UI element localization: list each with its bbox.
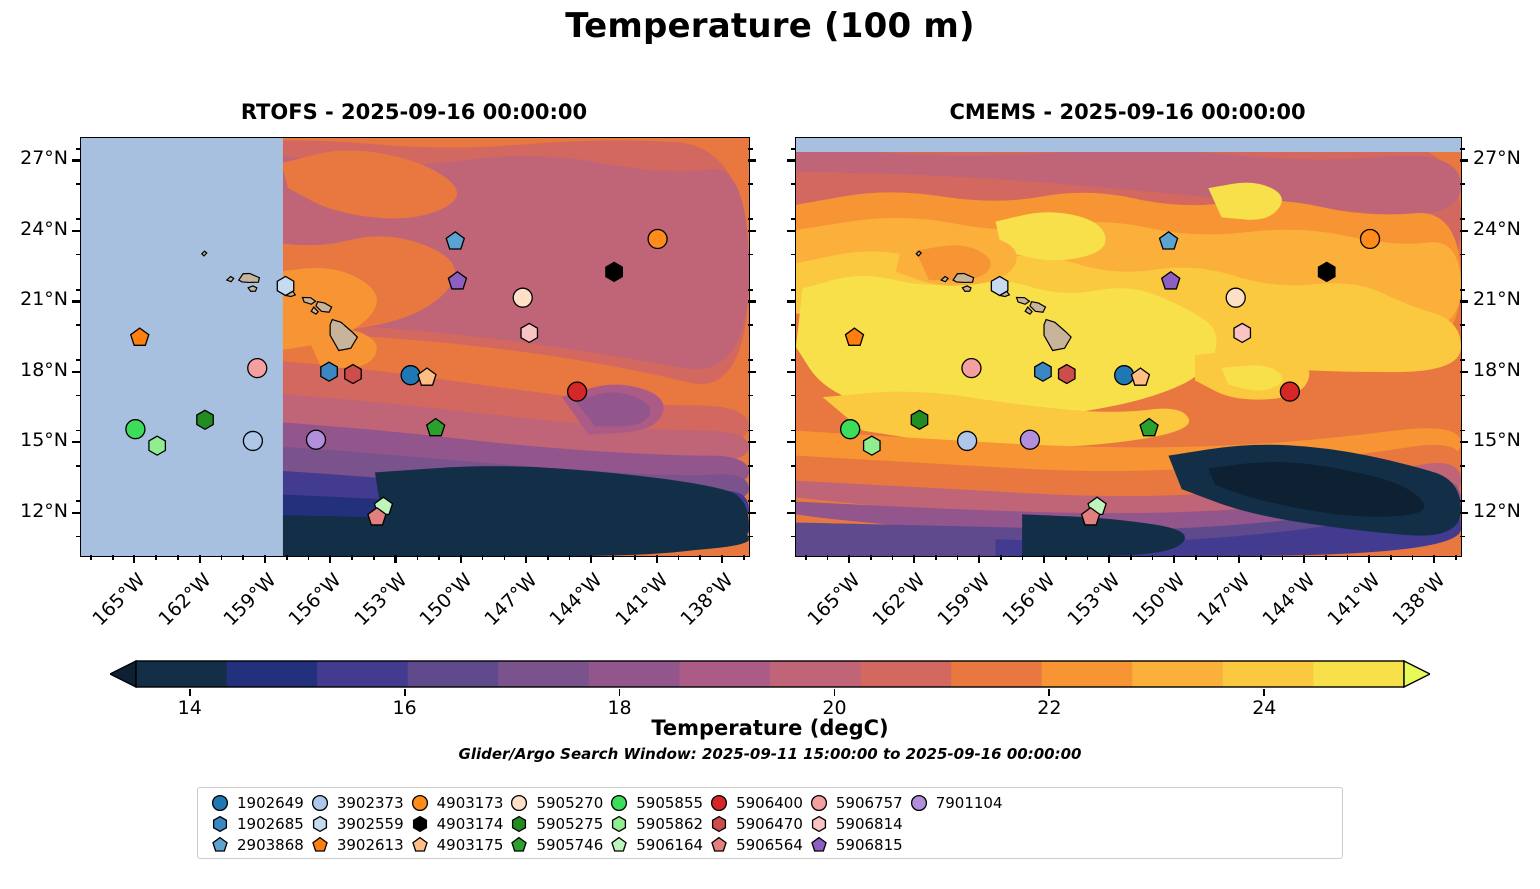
lon-minor-tick [308,555,310,560]
lat-minor-tick [791,254,796,256]
lat-minor-tick [1460,430,1465,432]
lon-minor-tick [1347,555,1349,560]
lon-tick [394,555,396,563]
float-marker-5906470 [345,365,361,384]
lat-tick [787,512,795,514]
lat-tick-label: 27°N [1473,147,1540,169]
lat-tick [1460,159,1468,161]
colorbar-band [861,661,952,687]
legend-marker-circle-icon [210,793,230,813]
float-marker-5905270 [1226,288,1245,307]
colorbar-band [1313,661,1404,687]
float-marker-3902373 [243,431,262,450]
lon-minor-tick [935,555,937,560]
float-marker-5905275 [197,410,213,429]
legend-marker-circle-icon [609,793,629,813]
map-panel-rtofs[interactable] [80,137,750,557]
legend-marker-pentagon-icon [609,835,629,855]
lat-tick [72,512,80,514]
lon-minor-tick [155,555,157,560]
lat-tick [787,159,795,161]
lat-tick [1460,300,1468,302]
float-marker-4903174 [606,262,622,281]
lat-minor-tick [1460,254,1465,256]
lat-tick-label: 18°N [0,359,68,381]
colorbar-band [951,661,1042,687]
figure-title: Temperature (100 m) [0,6,1540,46]
lon-minor-tick [417,555,419,560]
lon-minor-tick [547,555,549,560]
legend-marker-hexagon-icon [210,814,230,834]
lat-minor-tick [76,324,81,326]
legend-label: 5905862 [636,815,703,833]
lon-minor-tick [1152,555,1154,560]
legend-item-4903175[interactable]: 4903175 [404,834,504,855]
lat-minor-tick [76,536,81,538]
legend-marker-pentagon-icon [509,835,529,855]
lat-minor-tick [748,254,753,256]
lat-minor-tick [791,536,796,538]
lon-tick [264,555,266,563]
lat-minor-tick [791,465,796,467]
lon-tick [721,555,723,563]
colorbar-band [136,661,227,687]
lon-minor-tick [1022,555,1024,560]
legend-item-5905275[interactable]: 5905275 [503,813,603,834]
legend-marker-circle-icon [410,793,430,813]
lon-minor-tick [1130,555,1132,560]
lat-minor-tick [1460,218,1465,220]
float-marker-1902685 [321,362,337,381]
colorbar-band [679,661,770,687]
lon-minor-tick [743,555,745,560]
legend-label: 5906815 [836,836,903,854]
legend-marker-pentagon-icon [210,835,230,855]
lat-minor-tick [76,395,81,397]
colorbar-band [1223,661,1314,687]
lat-minor-tick [748,289,753,291]
lat-minor-tick [1460,395,1465,397]
lat-tick [1460,230,1468,232]
lat-tick-label: 18°N [1473,359,1540,381]
legend-marker-pentagon-icon [410,835,430,855]
legend-marker-pentagon-icon [809,835,829,855]
legend-label: 4903174 [437,815,504,833]
rtofs-temperature-field [81,138,749,556]
lon-minor-tick [1260,555,1262,560]
lon-minor-tick [482,555,484,560]
legend-marker-circle-icon [909,793,929,813]
colorbar-gradient [110,659,1430,689]
float-marker-5906470 [1059,365,1075,384]
lat-minor-tick [76,500,81,502]
lat-minor-tick [1460,536,1465,538]
legend-item-3902373[interactable]: 3902373 [304,792,404,813]
legend-marker-circle-icon [509,793,529,813]
lat-minor-tick [791,289,796,291]
colorbar-band [408,661,499,687]
lon-tick [656,555,658,563]
lat-tick [748,159,756,161]
lat-minor-tick [748,395,753,397]
lat-minor-tick [748,324,753,326]
lat-minor-tick [1460,324,1465,326]
panel-title-rtofs: RTOFS - 2025-09-16 00:00:00 [80,100,748,124]
float-marker-1902649 [1115,366,1134,385]
lon-minor-tick [1325,555,1327,560]
legend-label: 1902685 [237,815,304,833]
lat-tick [72,371,80,373]
lat-tick [1460,441,1468,443]
colorbar-extend-high [1404,661,1430,687]
map-panel-cmems[interactable] [795,137,1462,557]
legend-item-5906815[interactable]: 5906815 [803,834,903,855]
legend-item-3902559[interactable]: 3902559 [304,813,404,834]
lat-minor-tick [1460,359,1465,361]
lon-minor-tick [504,555,506,560]
lat-minor-tick [76,289,81,291]
lon-tick [460,555,462,563]
lat-tick-label: 12°N [0,500,68,522]
legend-label: 3902613 [337,836,404,854]
lat-tick-label: 15°N [0,429,68,451]
lon-minor-tick [892,555,894,560]
float-marker-5906814 [1234,323,1250,342]
legend-item-4903174[interactable]: 4903174 [404,813,504,834]
lon-tick [978,555,980,563]
legend-label: 2903868 [237,836,304,854]
lat-tick [72,230,80,232]
lon-minor-tick [870,555,872,560]
lat-minor-tick [1460,148,1465,150]
figure-canvas: Temperature (100 m) RTOFS - 2025-09-16 0… [0,0,1540,889]
lon-tick [1303,555,1305,563]
lon-minor-tick [1282,555,1284,560]
float-marker-5905855 [126,420,145,439]
legend-label: 3902373 [337,794,404,812]
lat-minor-tick [1460,465,1465,467]
lon-tick [1173,555,1175,563]
lat-minor-tick [76,148,81,150]
float-marker-5905855 [841,420,860,439]
legend-marker-hexagon-icon [709,814,729,834]
float-marker-3902559 [991,276,1007,295]
lat-minor-tick [748,500,753,502]
float-marker-5906400 [1280,382,1299,401]
lon-minor-tick [438,555,440,560]
float-marker-5906814 [521,323,537,342]
lon-minor-tick [1455,555,1457,560]
lon-tick [525,555,527,563]
float-marker-5905862 [149,436,165,455]
float-marker-5905275 [911,410,927,429]
lat-tick [748,371,756,373]
float-marker-7901104 [1020,430,1039,449]
lon-minor-tick [351,555,353,560]
float-marker-5905862 [864,436,880,455]
legend-label: 7901104 [936,794,1003,812]
lat-tick [72,441,80,443]
colorbar-band [770,661,861,687]
lon-tick [848,555,850,563]
legend-marker-pentagon-icon [310,835,330,855]
lat-minor-tick [1460,183,1465,185]
lat-minor-tick [76,359,81,361]
legend-marker-pentagon-icon [709,835,729,855]
lat-minor-tick [748,218,753,220]
colorbar-tick [189,689,191,696]
colorbar-band [1042,661,1133,687]
lon-tick [199,555,201,563]
legend-label: 5906814 [836,815,903,833]
legend-marker-hexagon-icon [410,814,430,834]
legend-label: 5906470 [736,815,803,833]
colorbar-band [227,661,318,687]
colorbar-band [589,661,680,687]
float-legend[interactable]: 1902649190268529038683902373390255939026… [197,787,1343,859]
legend-label: 1902649 [237,794,304,812]
legend-item-5905270[interactable]: 5905270 [503,792,603,813]
legend-label: 5905270 [536,794,603,812]
legend-label: 3902559 [337,815,404,833]
lon-minor-tick [569,555,571,560]
legend-marker-hexagon-icon [310,814,330,834]
legend-label: 5906400 [736,794,803,812]
masked-no-data-region [81,138,283,556]
lat-tick [1460,512,1468,514]
lon-tick [913,555,915,563]
colorbar-tick [404,689,406,696]
legend-item-3902613[interactable]: 3902613 [304,834,404,855]
legend-item-5906470[interactable]: 5906470 [703,813,803,834]
lat-tick [72,300,80,302]
colorbar-band [498,661,589,687]
lon-minor-tick [1087,555,1089,560]
lat-minor-tick [791,395,796,397]
legend-marker-hexagon-icon [509,814,529,834]
lon-minor-tick [221,555,223,560]
legend-marker-hexagon-icon [809,814,829,834]
legend-label: 5906757 [836,794,903,812]
float-marker-3902373 [958,431,977,450]
lon-minor-tick [1217,555,1219,560]
legend-marker-circle-icon [310,793,330,813]
lon-minor-tick [827,555,829,560]
lat-tick-label: 21°N [0,288,68,310]
lon-minor-tick [612,555,614,560]
legend-label: 5905275 [536,815,603,833]
float-marker-4903173 [648,229,667,248]
lat-tick-label: 27°N [0,147,68,169]
legend-marker-circle-icon [709,793,729,813]
panel-title-cmems: CMEMS - 2025-09-16 00:00:00 [795,100,1460,124]
lat-minor-tick [76,183,81,185]
colorbar-band [1132,661,1223,687]
lat-tick [748,441,756,443]
legend-item-5906814[interactable]: 5906814 [803,813,903,834]
legend-marker-circle-icon [809,793,829,813]
legend-label: 4903173 [437,794,504,812]
lat-tick-label: 21°N [1473,288,1540,310]
lat-minor-tick [748,430,753,432]
lon-minor-tick [373,555,375,560]
colorbar-extend-low [110,661,136,687]
legend-label: 4903175 [437,836,504,854]
float-marker-4903173 [1361,229,1380,248]
lat-tick [72,159,80,161]
lat-tick [787,371,795,373]
lat-tick-label: 15°N [1473,429,1540,451]
legend-item-5905855[interactable]: 5905855 [603,792,703,813]
lat-minor-tick [1460,289,1465,291]
float-marker-5905270 [513,288,532,307]
legend-item-5906757[interactable]: 5906757 [803,792,903,813]
colorbar-band [317,661,408,687]
colorbar [110,659,1430,689]
lat-tick [748,230,756,232]
lon-minor-tick [1195,555,1197,560]
lat-minor-tick [791,148,796,150]
lon-minor-tick [242,555,244,560]
float-marker-4903174 [1318,262,1334,281]
legend-item-1902649[interactable]: 1902649 [204,792,304,813]
lat-minor-tick [76,465,81,467]
float-marker-1902685 [1035,362,1051,381]
legend-label: 5905855 [636,794,703,812]
legend-item-7901104[interactable]: 7901104 [903,792,1003,813]
lon-minor-tick [90,555,92,560]
lat-minor-tick [791,218,796,220]
lat-minor-tick [748,465,753,467]
lat-minor-tick [76,430,81,432]
legend-item-5905746[interactable]: 5905746 [503,834,603,855]
colorbar-tick [834,689,836,696]
island-polygon [962,286,971,291]
legend-item-4903173[interactable]: 4903173 [404,792,504,813]
legend-marker-hexagon-icon [609,814,629,834]
lon-minor-tick [805,555,807,560]
lon-tick [1108,555,1110,563]
colorbar-title: Temperature (degC) [0,716,1540,740]
legend-grid: 1902649190268529038683902373390255939026… [204,792,1003,855]
colorbar-tick [619,689,621,696]
masked-no-data-strip [796,138,1461,152]
float-marker-1902649 [401,366,420,385]
lon-minor-tick [286,555,288,560]
legend-item-5906564[interactable]: 5906564 [703,834,803,855]
lat-minor-tick [748,359,753,361]
lat-minor-tick [791,500,796,502]
float-marker-3902559 [277,276,293,295]
lon-minor-tick [957,555,959,560]
colorbar-tick [1048,689,1050,696]
legend-item-5906164[interactable]: 5906164 [603,834,703,855]
lon-tick [1238,555,1240,563]
lon-minor-tick [112,555,114,560]
lon-tick [133,555,135,563]
legend-label: 5906564 [736,836,803,854]
lat-minor-tick [76,254,81,256]
lon-minor-tick [177,555,179,560]
lat-minor-tick [791,430,796,432]
legend-item-1902685[interactable]: 1902685 [204,813,304,834]
lat-tick [748,512,756,514]
lat-tick-label: 24°N [0,218,68,240]
lon-tick [329,555,331,563]
legend-item-5905862[interactable]: 5905862 [603,813,703,834]
lon-minor-tick [1390,555,1392,560]
lon-minor-tick [1000,555,1002,560]
lat-tick [787,441,795,443]
lon-minor-tick [1065,555,1067,560]
lon-tick [1043,555,1045,563]
legend-item-2903868[interactable]: 2903868 [204,834,304,855]
lat-minor-tick [791,324,796,326]
lon-minor-tick [1412,555,1414,560]
lon-tick [1433,555,1435,563]
island-polygon [248,286,257,291]
float-marker-5906757 [962,359,981,378]
lat-minor-tick [791,183,796,185]
lon-tick [590,555,592,563]
lat-tick-label: 12°N [1473,500,1540,522]
lat-minor-tick [748,183,753,185]
lat-tick [748,300,756,302]
legend-label: 5906164 [636,836,703,854]
lat-minor-tick [791,359,796,361]
lon-minor-tick [634,555,636,560]
float-marker-5906757 [248,359,267,378]
lat-minor-tick [748,148,753,150]
colorbar-tick [1263,689,1265,696]
lat-minor-tick [748,536,753,538]
legend-item-5906400[interactable]: 5906400 [703,792,803,813]
legend-label: 5905746 [536,836,603,854]
cmems-temperature-field [796,138,1461,556]
lat-tick-label: 24°N [1473,218,1540,240]
lat-minor-tick [76,218,81,220]
search-window-caption: Glider/Argo Search Window: 2025-09-11 15… [0,745,1540,763]
float-marker-5906400 [568,382,587,401]
temperature-contours [796,138,1461,556]
lon-tick [1368,555,1370,563]
lon-minor-tick [699,555,701,560]
lon-minor-tick [678,555,680,560]
lat-tick [787,300,795,302]
lat-tick [1460,371,1468,373]
lat-tick [787,230,795,232]
lat-minor-tick [1460,500,1465,502]
float-marker-7901104 [306,430,325,449]
